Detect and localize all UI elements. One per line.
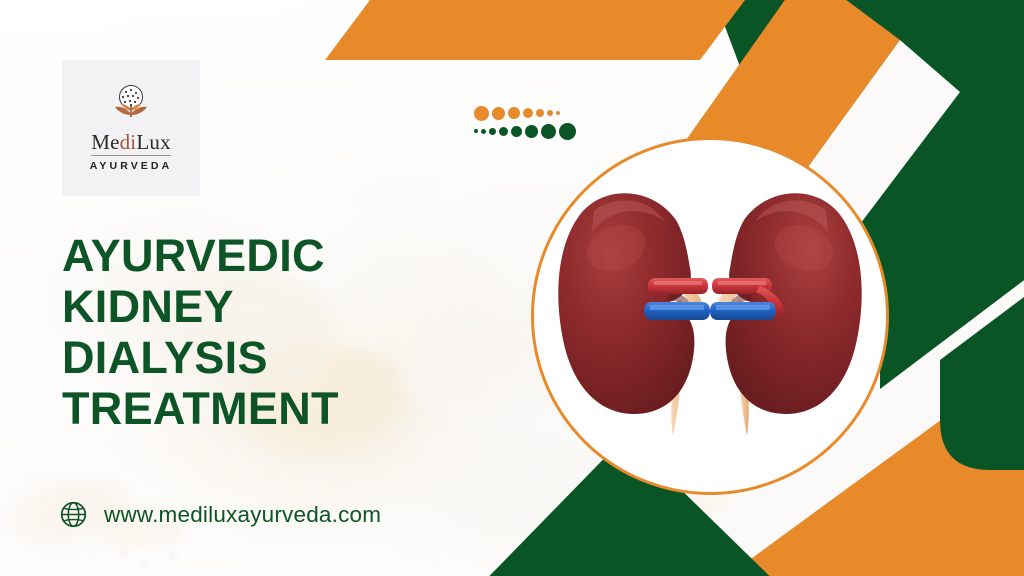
globe-icon (60, 501, 87, 528)
website-url-text: www.mediluxayurveda.com (104, 502, 381, 528)
logo-word-accent: di (120, 130, 137, 154)
renal-artery (648, 278, 708, 294)
herbal-plant-icon (109, 84, 153, 131)
website-link[interactable]: www.mediluxayurveda.com (60, 501, 381, 528)
page-title: AYURVEDIC KIDNEY DIALYSIS TREATMENT (62, 231, 442, 434)
logo-wordmark: MediLux (91, 132, 171, 156)
title-line-2: KIDNEY (62, 282, 442, 333)
title-line-3: DIALYSIS (62, 333, 442, 384)
dot-row-orange (474, 104, 579, 122)
dot-pattern-decor (474, 104, 579, 140)
renal-vein (710, 302, 776, 320)
kidney-illustration-circle (531, 137, 889, 495)
renal-vein (644, 302, 710, 320)
title-line-4: TREATMENT (62, 384, 442, 435)
logo-word-part1: Me (91, 130, 119, 154)
brand-logo[interactable]: MediLux AYURVEDA (62, 60, 200, 196)
title-line-1: AYURVEDIC (62, 231, 442, 282)
kidneys-anatomy-illustration (534, 140, 886, 492)
logo-word-part2: Lux (136, 130, 170, 154)
logo-subtitle: AYURVEDA (90, 160, 173, 172)
poster-canvas: MediLux AYURVEDA AYURVEDIC KIDNEY DIALYS… (0, 0, 1024, 576)
dot-row-green (474, 122, 579, 140)
